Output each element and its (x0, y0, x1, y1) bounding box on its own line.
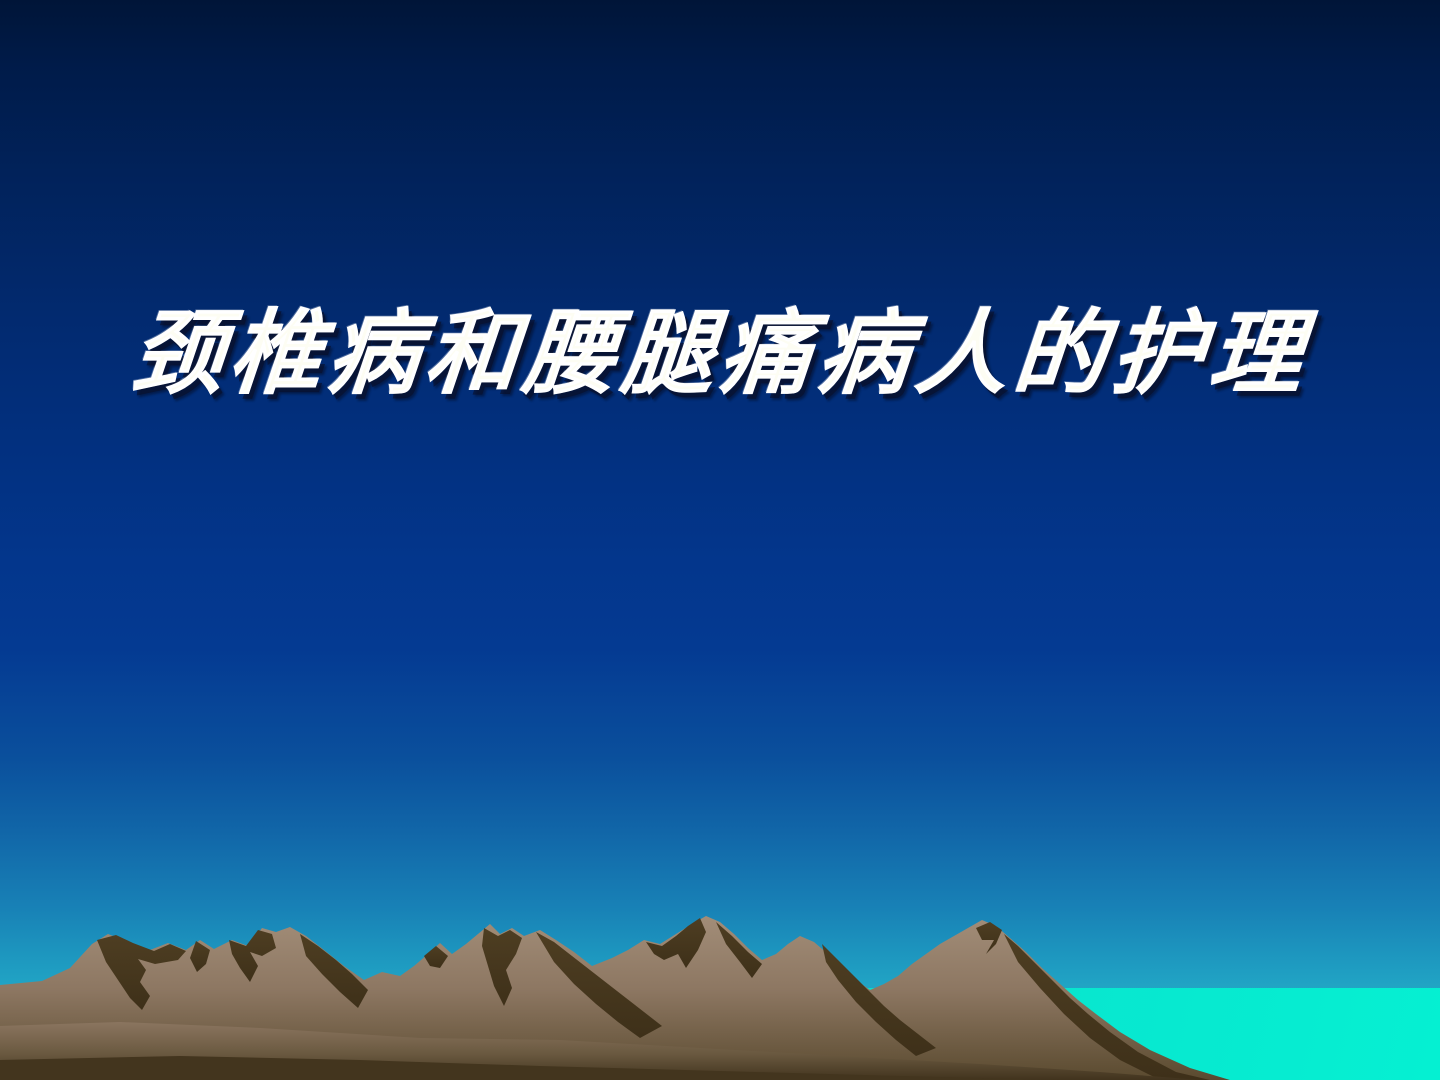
mountain-ridge-silhouette (0, 910, 1440, 1080)
presentation-slide: 颈椎病和腰腿痛病人的护理 (0, 0, 1440, 1080)
title-block: 颈椎病和腰腿痛病人的护理 (0, 302, 1440, 405)
page-title: 颈椎病和腰腿痛病人的护理 (127, 302, 1312, 405)
